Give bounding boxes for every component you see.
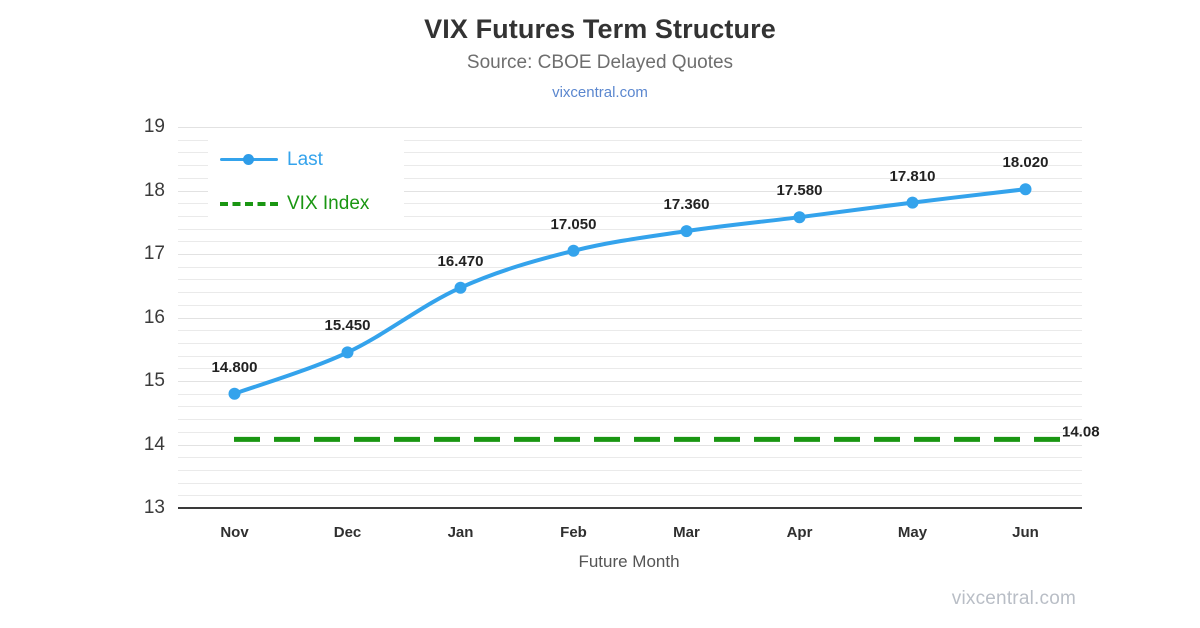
data-point-label: 17.810 (890, 168, 936, 185)
x-tick-label: Mar (637, 524, 737, 541)
legend-item-label: Last (287, 150, 323, 169)
legend-dashed-line-icon (220, 196, 278, 210)
data-point-label: 15.450 (325, 317, 371, 334)
y-tick-label: 18 (125, 180, 165, 202)
chart-subtitle: Source: CBOE Delayed Quotes (0, 45, 1200, 74)
data-point[interactable] (681, 225, 693, 237)
x-tick-label: Jan (411, 524, 511, 541)
legend-item-vix-index[interactable]: VIX Index (220, 192, 369, 214)
chart-title: VIX Futures Term Structure (0, 0, 1200, 45)
x-tick-label: Apr (750, 524, 850, 541)
data-point[interactable] (455, 282, 467, 294)
y-tick-label: 16 (125, 307, 165, 329)
y-tick-label: 19 (125, 116, 165, 138)
x-axis-title-text: Future Month (578, 552, 679, 572)
x-axis-ticks: NovDecJanFebMarAprMayJun (178, 524, 1082, 548)
vix-index-value-label: 14.08 (1062, 424, 1100, 441)
x-tick-label: Feb (524, 524, 624, 541)
x-tick-label: May (863, 524, 963, 541)
watermark: vixcentral.com (952, 588, 1076, 610)
y-axis-title: Volatility (0, 245, 1, 300)
data-point-label: 16.470 (438, 253, 484, 270)
y-axis-ticks: 13141516171819 (110, 127, 165, 508)
legend-item-last[interactable]: Last (220, 148, 323, 170)
legend-line-marker-icon (220, 152, 278, 166)
data-point[interactable] (229, 388, 241, 400)
x-tick-label: Nov (185, 524, 285, 541)
legend-item-label: VIX Index (287, 194, 369, 213)
data-point[interactable] (568, 245, 580, 257)
data-point-label: 17.360 (664, 196, 710, 213)
data-point[interactable] (907, 197, 919, 209)
chart-header: VIX Futures Term Structure Source: CBOE … (0, 0, 1200, 102)
data-point[interactable] (342, 346, 354, 358)
data-point[interactable] (1020, 183, 1032, 195)
data-point[interactable] (794, 211, 806, 223)
data-point-label: 18.020 (1003, 154, 1049, 171)
y-tick-label: 17 (125, 243, 165, 265)
chart-legend: Last VIX Index (208, 134, 404, 226)
x-tick-label: Dec (298, 524, 398, 541)
x-axis-line (178, 507, 1082, 509)
y-tick-label: 15 (125, 370, 165, 392)
source-link[interactable]: vixcentral.com (552, 84, 648, 101)
data-point-label: 17.580 (777, 182, 823, 199)
x-axis-title: Future Month (0, 552, 1200, 572)
y-tick-label: 13 (125, 497, 165, 519)
y-tick-label: 14 (125, 434, 165, 456)
data-point-label: 14.800 (212, 359, 258, 376)
x-tick-label: Jun (976, 524, 1076, 541)
data-point-label: 17.050 (551, 216, 597, 233)
